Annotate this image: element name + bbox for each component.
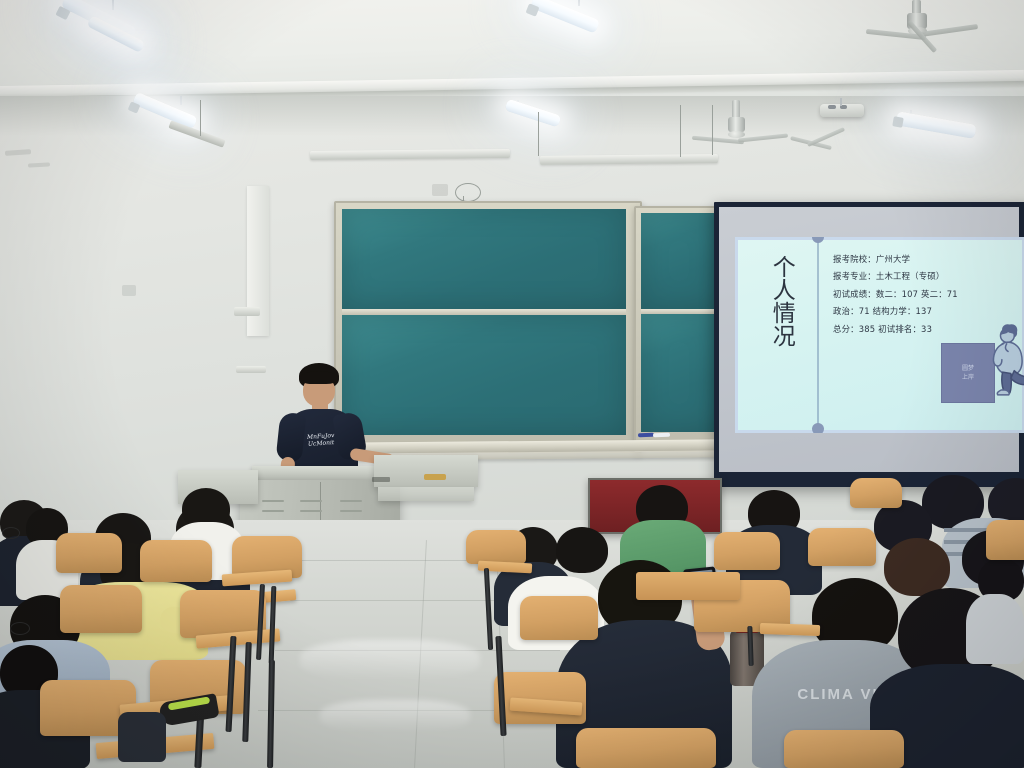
slide-person-illustration bbox=[975, 315, 1024, 403]
ceiling-light-2 bbox=[530, 0, 600, 48]
chair-back-r2[interactable] bbox=[714, 532, 780, 570]
student-glasses-blue bbox=[10, 622, 30, 635]
shirt-text-line2: UcMonit bbox=[308, 440, 335, 448]
wall-wire-3 bbox=[712, 105, 713, 155]
wall-wire-2 bbox=[680, 105, 681, 157]
blackboard-secondary-lower bbox=[641, 314, 717, 432]
student-head-r4 bbox=[884, 538, 950, 596]
chair-seat-r1[interactable] bbox=[636, 572, 740, 600]
chair-back-far-right[interactable] bbox=[986, 520, 1024, 560]
projection-screen: 个人情况 报考院校：广州大学 报考专业：土木工程（专硕） 初试成绩：数二：107… bbox=[714, 202, 1024, 487]
blackboard-secondary-upper bbox=[641, 213, 717, 309]
wall-hook-2 bbox=[236, 366, 266, 373]
ceiling-fan-1 bbox=[876, 0, 986, 52]
chair-back-r5[interactable] bbox=[520, 596, 598, 640]
chair-back-l1[interactable] bbox=[56, 533, 122, 573]
teacher-bench bbox=[374, 455, 478, 487]
slide-line-scores: 初试成绩：数二：107 英二：71 bbox=[833, 290, 1019, 298]
wall-hook bbox=[234, 307, 260, 316]
floor-reflection-2 bbox=[320, 700, 470, 732]
screen-surface: 个人情况 报考院校：广州大学 报考专业：土木工程（专硕） 初试成绩：数二：107… bbox=[719, 207, 1019, 472]
chair-back-r3[interactable] bbox=[808, 528, 876, 566]
cable-loop bbox=[455, 183, 481, 202]
slide-line-major: 报考专业：土木工程（专硕） bbox=[833, 272, 1019, 280]
chair-back-r7[interactable] bbox=[576, 728, 716, 768]
ceiling-light-5 bbox=[896, 112, 978, 152]
presenter-fringe bbox=[301, 371, 337, 384]
wall-mark-1 bbox=[122, 285, 136, 296]
chair-back-l4[interactable] bbox=[60, 585, 142, 633]
ceiling-fan-3 bbox=[790, 125, 860, 165]
desk-r3 bbox=[760, 623, 820, 636]
chair-back-r1[interactable] bbox=[466, 530, 526, 564]
presenter-shirt-graphic: MnFuJov UcMonit bbox=[294, 429, 348, 451]
chair-back-r8[interactable] bbox=[784, 730, 904, 768]
chair-back-l2[interactable] bbox=[140, 540, 212, 582]
blackboard-upper-panel bbox=[342, 209, 626, 309]
bench-items bbox=[424, 474, 446, 480]
slide-line-school: 报考院校：广州大学 bbox=[833, 255, 1019, 263]
slide-title-block: 个人情况 bbox=[755, 255, 807, 415]
student-glasses-l1 bbox=[2, 527, 20, 539]
ceiling-light-4 bbox=[505, 100, 565, 138]
chair-back-right-edge[interactable] bbox=[850, 478, 902, 508]
lamp-wire-1 bbox=[200, 100, 201, 136]
chair-back-r6[interactable] bbox=[494, 672, 586, 724]
classroom-photo: 个人情况 报考院校：广州大学 报考专业：土木工程（专硕） 初试成绩：数二：107… bbox=[0, 0, 1024, 768]
illustration-box-line2: 上岸 bbox=[962, 373, 974, 382]
student-head-c2 bbox=[556, 527, 608, 573]
student-body-r7 bbox=[966, 594, 1024, 664]
projector bbox=[820, 100, 866, 126]
slide: 个人情况 报考院校：广州大学 报考专业：土木工程（专硕） 初试成绩：数二：107… bbox=[735, 237, 1024, 433]
wall-outlet-1 bbox=[432, 184, 448, 196]
illustration-box-line1: 圆梦 bbox=[962, 364, 974, 373]
blue-marker[interactable] bbox=[638, 433, 654, 438]
podium-label bbox=[372, 477, 390, 482]
white-marker[interactable] bbox=[653, 433, 670, 438]
slide-notch-top bbox=[812, 237, 824, 243]
floor-reflection bbox=[300, 640, 480, 680]
teacher-bench-lower bbox=[378, 487, 474, 501]
wall-wire-1 bbox=[538, 112, 539, 156]
wall-rail-2 bbox=[540, 154, 718, 165]
slide-notch-bottom bbox=[812, 423, 824, 433]
slide-title: 个人情况 bbox=[769, 255, 793, 347]
backpack bbox=[118, 712, 166, 762]
slide-divider bbox=[817, 241, 819, 429]
